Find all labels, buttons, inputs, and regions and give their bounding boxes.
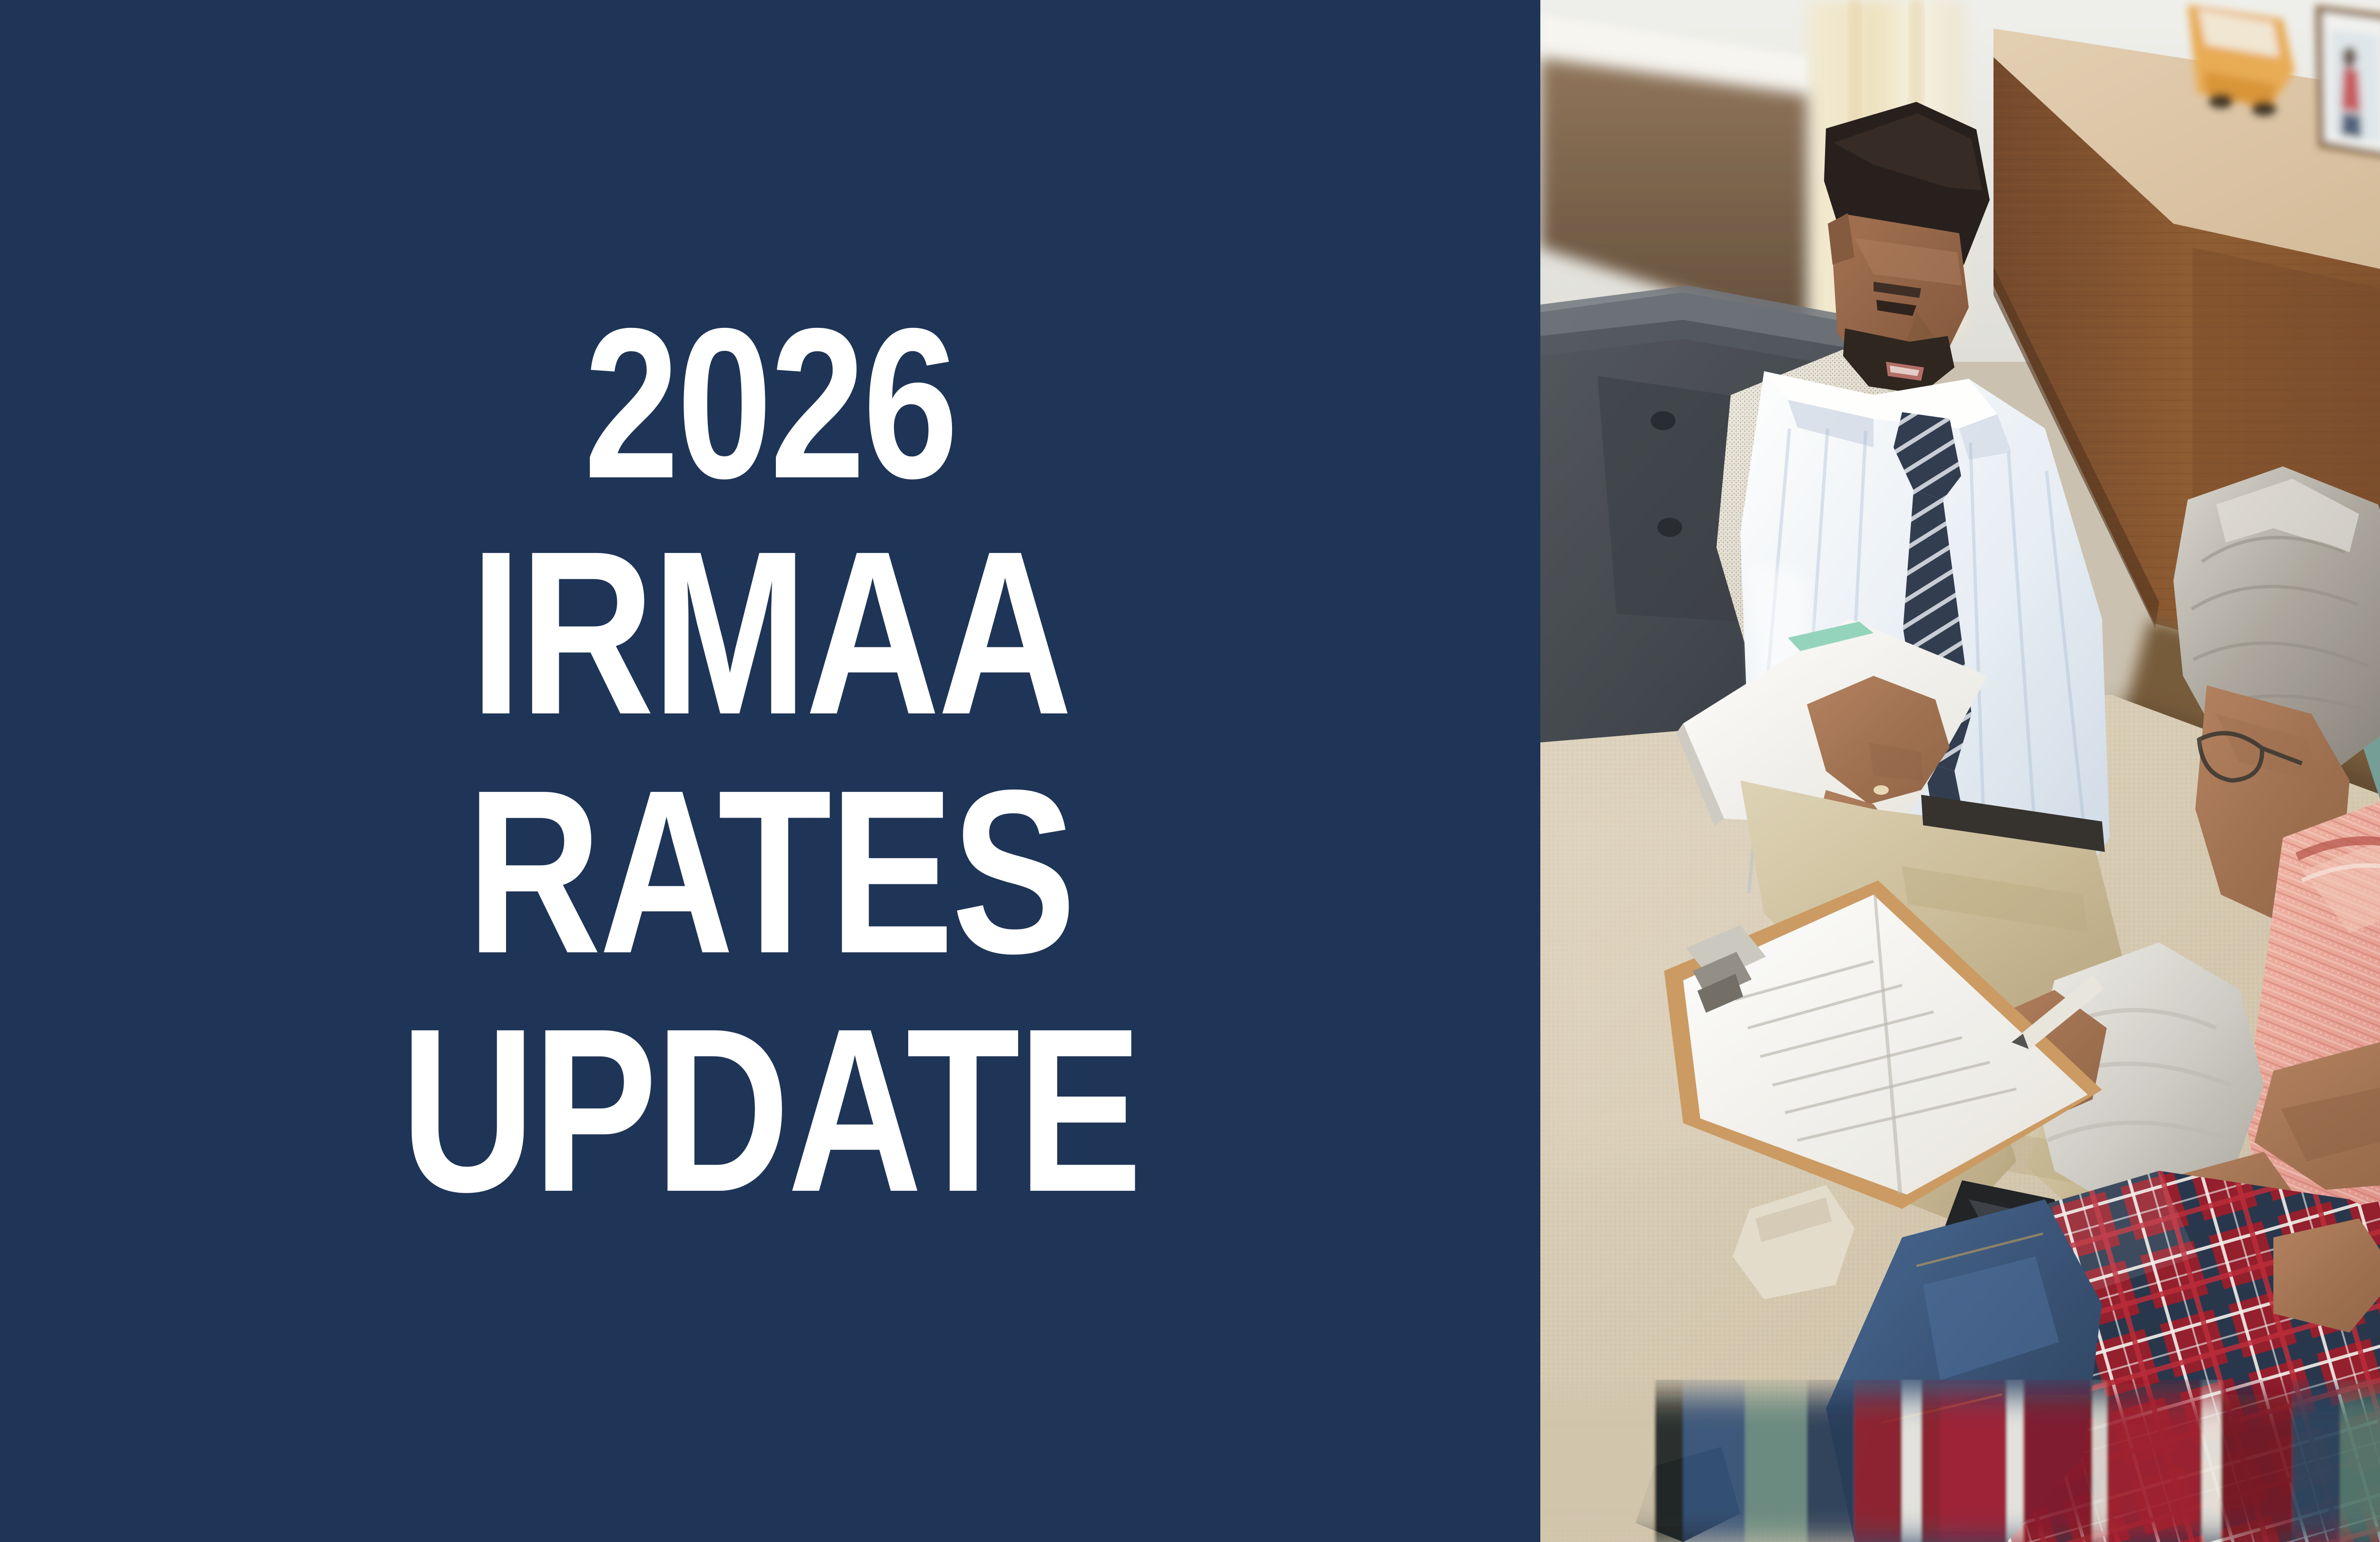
headline-line-rates: RATES (466, 759, 1073, 985)
headline-line-irmaa: IRMAA (470, 520, 1071, 746)
poster-canvas: 2026 IRMAA RATES UPDATE (0, 0, 2380, 1542)
headline-line-year: 2026 (584, 300, 956, 508)
photo-illustration (1540, 0, 2380, 1542)
headline-panel: 2026 IRMAA RATES UPDATE (0, 0, 1540, 1542)
photo-warm-overlay (1540, 0, 2380, 1542)
headline-block: 2026 IRMAA RATES UPDATE (199, 300, 1341, 1223)
advisor-meeting-photo (1540, 0, 2380, 1542)
headline-line-update: UPDATE (400, 997, 1140, 1223)
